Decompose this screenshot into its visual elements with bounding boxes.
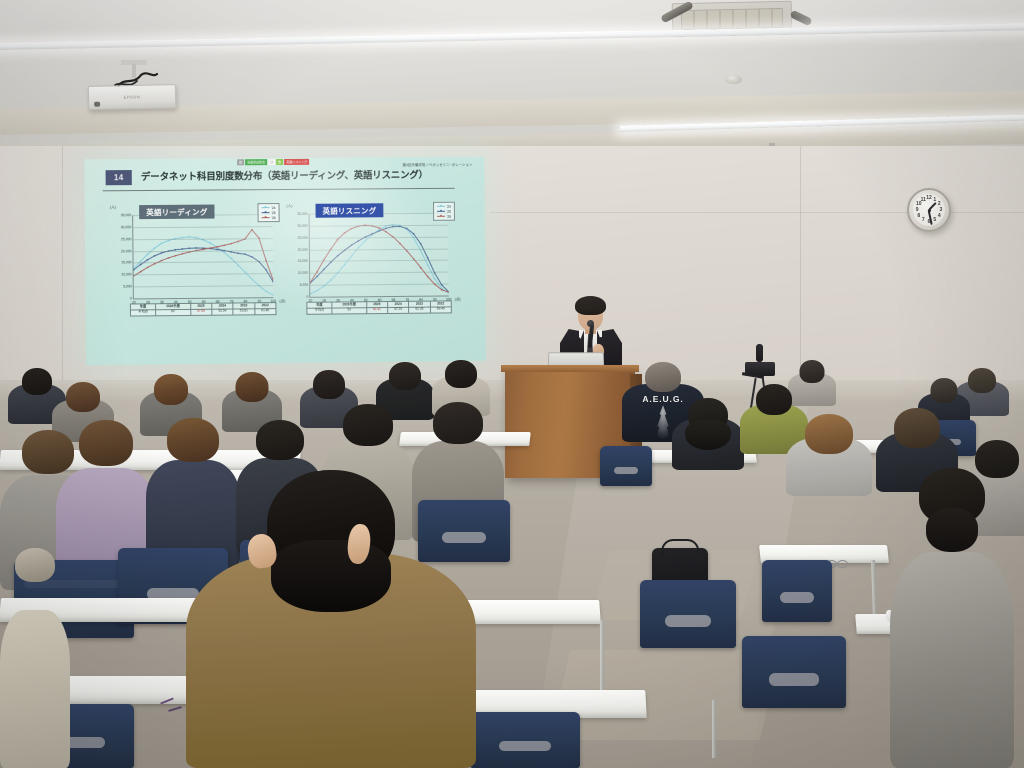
series-marker <box>154 247 156 249</box>
chair-handle-slot <box>614 467 639 474</box>
x-axis-unit: (点) <box>455 297 461 302</box>
legend-label: '26 <box>447 214 451 218</box>
desk-leg <box>712 700 716 758</box>
person-body <box>0 610 70 768</box>
series-marker <box>188 236 190 238</box>
person-hair <box>685 420 731 450</box>
series-marker <box>182 253 184 255</box>
chair[interactable] <box>600 446 652 486</box>
smoke-detector-icon <box>725 75 742 84</box>
chair[interactable] <box>762 560 832 622</box>
table-row-label: 平均点 <box>130 310 155 316</box>
table-cell: 57.69 <box>190 309 211 315</box>
foreground-audience-member <box>186 470 476 768</box>
y-axis-tick-label: 15,000 <box>121 261 131 265</box>
screen-glare <box>194 157 446 332</box>
legend-entry: '24 <box>437 204 451 208</box>
series-marker <box>140 264 142 266</box>
clock-numeral: 8 <box>917 213 920 219</box>
person-hair-bun <box>926 508 978 552</box>
projector-brand-label: EPSON <box>124 94 141 99</box>
slide-surface: 14 データネット科目別度数分布（英語リーディング、英語リスニング） 国英語筆記… <box>84 157 486 365</box>
legend-swatch <box>261 217 269 218</box>
legend-swatch <box>437 216 445 217</box>
camera-microphone-icon <box>756 344 763 362</box>
legend-swatch <box>437 211 445 212</box>
legend-label: '24 <box>447 204 451 208</box>
series-marker <box>441 289 443 291</box>
series-marker <box>188 251 190 253</box>
clock-numeral: 12 <box>926 195 932 201</box>
person-head <box>894 408 940 448</box>
legend-swatch <box>437 206 445 207</box>
wall-seam <box>62 146 63 401</box>
chair-handle-slot <box>499 741 552 751</box>
legend-swatch <box>261 207 269 208</box>
lecture-hall-photo: EPSON 12 1 2 3 4 5 6 7 8 9 10 11 <box>0 0 1024 768</box>
legend-label: '25 <box>271 211 275 215</box>
series-marker <box>441 284 443 286</box>
legend-entry: '25 <box>437 209 451 213</box>
ac-grille <box>681 8 783 30</box>
table-cell: 51.54 <box>212 309 233 315</box>
clock-numeral: 9 <box>916 207 919 213</box>
ceiling-projector: EPSON <box>88 84 176 110</box>
chair-handle-slot <box>665 615 711 627</box>
audience-member-front-right <box>890 468 1014 768</box>
series-marker <box>434 272 436 274</box>
series-marker <box>161 252 163 254</box>
series-marker <box>161 260 163 262</box>
clock-numeral: 11 <box>921 197 926 203</box>
legend-reading: '24'25'26 <box>257 203 280 222</box>
wall-clock: 12 1 2 3 4 5 6 7 8 9 10 11 <box>907 188 951 232</box>
y-axis-unit: (人) <box>110 205 116 210</box>
y-axis-tick-label: 5,000 <box>123 285 132 289</box>
person-head <box>445 360 477 388</box>
legend-entry: '26 <box>261 216 275 220</box>
series-marker <box>434 278 436 280</box>
clock-numeral: 7 <box>922 217 925 223</box>
series-marker <box>175 255 177 257</box>
y-axis-tick-label: 10,000 <box>121 273 131 277</box>
person-head <box>805 414 853 454</box>
legend-listening: '24'25'26 <box>433 202 455 221</box>
desk-leg <box>600 620 604 690</box>
series-marker <box>188 247 190 249</box>
audience-member <box>672 398 744 470</box>
person-hair <box>271 540 391 612</box>
clock-numeral: 5 <box>933 217 936 223</box>
person-head <box>800 360 825 383</box>
series-marker <box>147 253 149 255</box>
podium-top-surface <box>501 365 639 372</box>
chart-title-listening: 英語リスニング <box>315 203 383 218</box>
y-axis-tick-label: 25,000 <box>121 237 131 241</box>
person-head <box>167 418 219 462</box>
audience-member <box>0 548 70 768</box>
series-marker <box>160 243 162 245</box>
series-marker <box>140 271 142 273</box>
y-axis-tick-label: 20,000 <box>121 249 131 253</box>
person-head <box>256 420 304 460</box>
clock-center-pin <box>928 209 931 212</box>
slide-number-badge: 14 <box>106 170 132 185</box>
person-head <box>756 384 792 415</box>
chair[interactable] <box>470 712 580 768</box>
person-body <box>890 552 1014 768</box>
person-head <box>389 362 421 390</box>
legend-entry: '25 <box>261 211 275 215</box>
person-head <box>343 404 393 446</box>
series-marker <box>167 240 169 242</box>
y-axis-tick-label: 30,000 <box>121 225 131 229</box>
chart-title-reading: 英語リーディング <box>139 205 215 220</box>
person-head <box>931 378 958 403</box>
chair-handle-slot <box>769 673 819 685</box>
person-head <box>154 374 188 405</box>
person-head <box>645 362 681 392</box>
audience-member <box>786 414 872 496</box>
legend-label: '25 <box>447 209 451 213</box>
person-head <box>313 370 345 399</box>
video-camera <box>742 344 778 384</box>
legend-label: '26 <box>271 216 275 220</box>
microphone-head-icon <box>587 320 594 327</box>
table-cell: 53.81 <box>233 309 254 315</box>
legend-label: '24 <box>271 206 275 210</box>
presenter-hair <box>575 296 606 315</box>
y-axis-tick-label: 35,000 <box>121 213 131 217</box>
clock-face: 12 1 2 3 4 5 6 7 8 9 10 11 <box>913 194 945 226</box>
clock-numeral: 4 <box>938 213 941 219</box>
person-head <box>433 402 483 444</box>
person-head <box>79 420 133 466</box>
legend-swatch <box>261 212 269 213</box>
chair[interactable] <box>640 580 736 648</box>
projector-lens-icon <box>94 102 100 107</box>
series-marker <box>154 263 156 265</box>
chair-handle-slot <box>780 592 814 603</box>
chair[interactable] <box>742 636 846 708</box>
table-cell: 59.45 <box>430 307 451 313</box>
series-marker <box>168 257 170 259</box>
person-head <box>66 382 100 412</box>
table-cell: 62 <box>156 309 191 315</box>
person-head <box>236 372 269 402</box>
projection-screen: 14 データネット科目別度数分布（英語リーディング、英語リスニング） 国英語筆記… <box>84 157 486 365</box>
series-marker <box>147 259 149 261</box>
person-head <box>22 368 52 395</box>
series-marker <box>147 267 149 269</box>
series-marker <box>195 247 197 249</box>
person-head <box>15 548 55 582</box>
legend-entry: '26 <box>437 214 451 218</box>
series-marker <box>154 255 156 257</box>
person-head <box>968 368 996 393</box>
legend-entry: '24 <box>261 206 275 210</box>
